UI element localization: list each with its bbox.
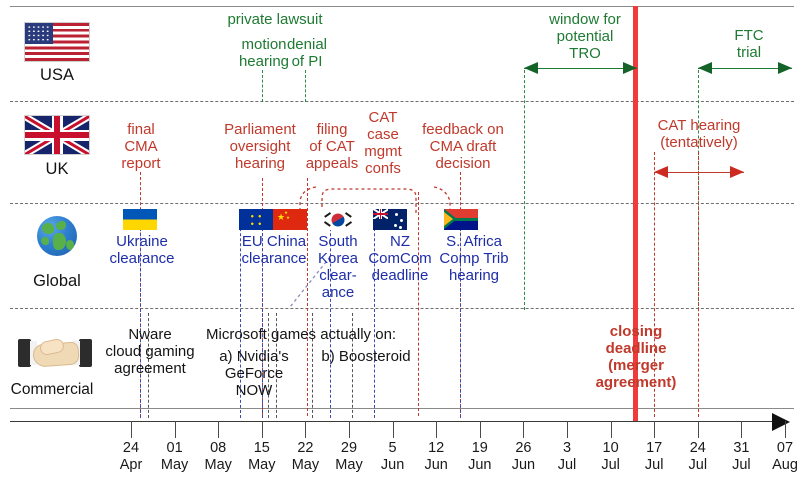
axis-tick-day: 31 [717,440,765,457]
globe-icon [2,216,112,261]
axis-tick [741,421,742,438]
axis-tick-day: 29 [325,440,373,457]
axis-tick-month: May [325,457,373,474]
axis-tick-day: 08 [194,440,242,457]
axis-tick-month: May [151,457,199,474]
axis-tick-label: 22May [281,440,329,474]
global-event-eu-china-clearance: EU China clearance [234,234,314,268]
connector-tro-start [524,70,525,310]
axis-tick-label: 07Aug [761,440,800,474]
axis-tick-label: 24Jul [674,440,722,474]
axis-tick-label: 3Jul [543,440,591,474]
connector-denial-of-pi [305,70,306,102]
uk-event-cat-case-mgmt-confs: CAT case mgmt confs [352,110,414,178]
new-zealand-flag-icon [373,209,407,230]
connector-cat-hearing-end [698,152,699,417]
axis-tick [523,421,524,438]
axis-tick-month: Aug [761,457,800,474]
axis-tick-day: 5 [369,440,417,457]
axis-tick [218,421,219,438]
row-label-uk: UK [2,160,112,179]
axis-tick [698,421,699,438]
connector-cat-cmc-b [418,192,419,416]
axis-tick [175,421,176,438]
axis-tick-month: Jul [674,457,722,474]
usa-event-denial-of-pi: denial of PI [272,37,342,71]
axis-tick-label: 08May [194,440,242,474]
axis-tick-day: 17 [630,440,678,457]
south-korea-flag-icon [321,209,355,230]
axis-tick-month: Jul [630,457,678,474]
top-border [10,6,794,7]
timeline-axis [10,421,780,422]
commercial-event-ms-games-heading: Microsoft games actually on: [206,327,422,344]
eu-flag-icon [239,209,273,230]
axis-tick-label: 31Jul [717,440,765,474]
axis-tick-label: 29May [325,440,373,474]
axis-tick-month: Jun [412,457,460,474]
axis-tick-label: 26Jun [499,440,547,474]
private-lawsuit-group-label: private lawsuit [210,12,340,29]
axis-tick-label: 24Apr [107,440,155,474]
axis-tick [349,421,350,438]
global-event-south-africa-hearing: S. Africa Comp Trib hearing [431,234,517,285]
axis-tick-month: May [238,457,286,474]
uk-event-cat-hearing: CAT hearing (tentatively) [639,118,759,152]
axis-tick-day: 26 [499,440,547,457]
axis-tick-day: 01 [151,440,199,457]
axis-tick [262,421,263,438]
axis-tick-month: Jul [543,457,591,474]
axis-tick [436,421,437,438]
axis-tick-month: Jul [717,457,765,474]
axis-tick-day: 19 [456,440,504,457]
row-label-commercial: Commercial [0,381,107,399]
axis-tick-label: 01May [151,440,199,474]
axis-tick [785,421,786,438]
ukraine-flag-icon [123,209,157,230]
axis-tick-month: Jun [499,457,547,474]
connector-motion-hearing [262,70,263,102]
uk-event-feedback-cma-draft: feedback on CMA draft decision [410,122,516,173]
south-africa-flag-icon [444,209,478,230]
axis-tick-day: 15 [238,440,286,457]
axis-tick [611,421,612,438]
commercial-event-ms-games-nvidia: a) Nvidia's GeForce NOW [206,349,302,400]
axis-tick-label: 15May [238,440,286,474]
axis-tick-label: 10Jul [587,440,635,474]
axis-tick-day: 24 [107,440,155,457]
axis-tick-month: May [281,457,329,474]
commercial-event-nware: Nware cloud gaming agreement [104,327,196,378]
usa-flag-icon [2,22,112,62]
axis-tick-day: 24 [674,440,722,457]
commercial-event-ms-games-boosteroid: b) Boosteroid [310,349,422,366]
axis-tick-day: 07 [761,440,800,457]
axis-tick [131,421,132,438]
axis-tick [393,421,394,438]
axis-tick-day: 12 [412,440,460,457]
closing-deadline-label: closing deadline (merger agreement) [588,324,684,392]
axis-tick [480,421,481,438]
axis-tick-label: 19Jun [456,440,504,474]
china-flag-icon: ★★★ [273,209,307,230]
global-event-south-korea-clearance: South Korea clear- ance [311,234,365,302]
axis-tick-label: 17Jul [630,440,678,474]
axis-tick [654,421,655,438]
uk-flag-icon [2,115,112,155]
axis-tick-day: 10 [587,440,635,457]
usa-event-ftc-trial: FTC trial [718,28,780,62]
row-label-usa: USA [2,66,112,85]
row-divider-usa-uk [10,101,794,102]
axis-tick-month: Jun [456,457,504,474]
uk-event-final-cma-report: final CMA report [110,122,172,173]
global-event-ukraine-clearance: Ukraine clearance [108,234,176,268]
timeline-axis-arrow-icon [772,413,790,431]
axis-tick [305,421,306,438]
row-divider-global-commercial [10,308,794,309]
timeline-diagram: USA UK Global Commercial [0,0,800,487]
axis-tick-day: 3 [543,440,591,457]
global-event-nz-comcom-deadline: NZ ComCom deadline [360,234,440,285]
axis-tick-label: 12Jun [412,440,460,474]
handshake-icon [0,333,110,378]
axis-tick-day: 22 [281,440,329,457]
row-label-global: Global [2,272,112,291]
axis-tick-month: Jul [587,457,635,474]
axis-tick-label: 5Jun [369,440,417,474]
axis-tick-month: Jun [369,457,417,474]
axis-tick [567,421,568,438]
axis-tick-month: May [194,457,242,474]
axis-tick-month: Apr [107,457,155,474]
bottom-border [10,408,794,409]
usa-event-window-tro: window for potential TRO [533,12,637,63]
